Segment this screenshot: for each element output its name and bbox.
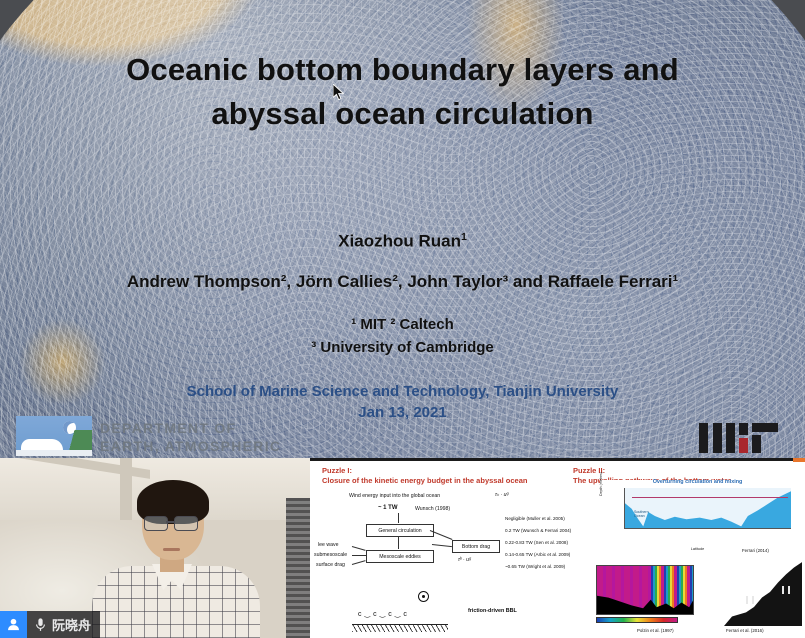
- thumbnail-top-bar: [310, 458, 805, 461]
- eyeglasses-bridge: [166, 521, 174, 523]
- department-logo-text-line1: DEPARTMENT OF: [100, 419, 281, 437]
- label-surface-drag: surface drag: [316, 562, 345, 568]
- microphone-icon[interactable]: [34, 617, 47, 633]
- sea-band: [16, 450, 92, 456]
- into-page-symbol-icon: [418, 591, 429, 602]
- polzin-colorbar: [596, 617, 678, 623]
- presenter-affiliation-marker: 1: [461, 231, 467, 243]
- polzin-mixing-figure: [578, 558, 698, 632]
- participant-name-bar: 阮晓舟: [0, 611, 100, 638]
- box-mesoscale-eddies: Mesoscale eddies: [366, 550, 434, 563]
- puzzle-1-subheading: Closure of the kinetic energy budget in …: [322, 476, 527, 486]
- sloping-seafloor: [702, 558, 802, 626]
- credit-ferrari-2016: Ferrari et al. (2016): [726, 628, 764, 633]
- ocean-basin-shading: [625, 488, 791, 528]
- ferrari-2016-schematic: [702, 558, 802, 626]
- overturning-streamline: [632, 497, 788, 498]
- citation-2: 0.2 TW (Wunsch & Ferrari 2004): [505, 528, 571, 533]
- wind-energy-formula: τₕ · uᵍ: [495, 492, 509, 498]
- mouse-pointer-icon: [333, 84, 345, 102]
- southern-ocean-label: Southern Ocean: [634, 510, 649, 519]
- box-bottom-drag: Bottom drag: [452, 540, 500, 553]
- label-submesoscale: submesoscale: [314, 552, 347, 558]
- puzzle-1-heading-group: Puzzle I: Closure of the kinetic energy …: [322, 466, 527, 486]
- southern-ocean-label-line2: Ocean: [634, 514, 649, 518]
- wind-energy-citation: Wunsch (1998): [415, 506, 450, 512]
- citation-4: 0.14-0.65 TW (Arbic et al. 2009): [505, 552, 570, 557]
- wind-energy-input-label: Wind energy input into the global ocean: [349, 493, 440, 499]
- mit-logo-red-bar: [739, 438, 748, 453]
- presenter-name-text: Xiaozhou Ruan: [338, 232, 461, 251]
- arrow-lee-wave: [352, 546, 366, 551]
- polzin-plot-area: [596, 565, 694, 615]
- presenter-name: Xiaozhou Ruan1: [0, 231, 805, 252]
- person-icon: [0, 611, 27, 638]
- arrow-circulation-to-eddies: [398, 536, 399, 549]
- arrow-eddies-to-bottom-drag: [432, 544, 452, 547]
- upwelling-arrow-2: [752, 596, 754, 604]
- participant-mouth: [163, 548, 180, 551]
- overturning-figure-title: Overturning circulation and mixing: [600, 479, 795, 485]
- department-logo-text: DEPARTMENT OF EARTH, ATMOSPHERIC: [100, 419, 281, 455]
- bottom-strip: 阮晓舟 Puzzle I: Closure of the kinetic ene…: [0, 458, 805, 638]
- citation-5: ~0.65 TW (Wright et al. 2009): [505, 564, 565, 569]
- credit-polzin: Polzin et al. (1997): [637, 628, 674, 633]
- citation-3: 0.22-0.83 TW (Sen et al. 2008): [505, 540, 568, 545]
- slide-title-line1: Oceanic bottom boundary layers and: [0, 52, 805, 88]
- overturning-circulation-figure: Overturning circulation and mixing 0 1,0…: [600, 480, 795, 542]
- bbl-label: friction-driven BBL: [468, 608, 517, 614]
- wind-energy-magnitude: ~ 1 TW: [378, 505, 398, 511]
- label-lee-wave: lee wave: [318, 542, 338, 548]
- slide-thumbnail-panel[interactable]: Puzzle I: Closure of the kinetic energy …: [310, 458, 805, 638]
- seafloor-hatching: [352, 624, 448, 632]
- eaps-department-logo-icon: [16, 416, 92, 456]
- participant-name-label: 阮晓舟: [52, 615, 91, 634]
- mit-logo-icon: [699, 419, 787, 453]
- coauthors: Andrew Thompson², Jörn Callies², John Ta…: [0, 272, 805, 292]
- participant-video-tile[interactable]: 阮晓舟: [0, 458, 310, 638]
- eyeglasses-right-lens: [174, 516, 198, 531]
- puzzle-1-heading: Puzzle I:: [322, 466, 527, 476]
- thumbnail-accent-marker: [793, 458, 805, 462]
- arrow-wind-to-circulation: [398, 513, 399, 523]
- department-logo-text-line2: EARTH, ATMOSPHERIC: [100, 437, 281, 455]
- box-general-circulation: General circulation: [366, 524, 434, 537]
- upwelling-arrow-1: [746, 596, 748, 604]
- upwelling-arrow-3: [782, 586, 784, 594]
- puzzle-2-heading: Puzzle II:: [573, 466, 731, 476]
- venue: School of Marine Science and Technology,…: [0, 383, 805, 400]
- shared-screen-slide[interactable]: Oceanic bottom boundary layers and abyss…: [0, 0, 805, 458]
- window-blind: [286, 498, 310, 638]
- affiliation-line1: ¹ MIT ² Caltech: [0, 316, 805, 333]
- ceiling-beam-vertical: [120, 458, 132, 520]
- credit-overturning: Ferrari (2014): [742, 548, 769, 553]
- upwelling-arrow-4: [788, 586, 790, 594]
- affiliation-line2: ³ University of Cambridge: [0, 339, 805, 356]
- overturning-ylabel: Depth (metres): [599, 472, 603, 496]
- cloud-icon: [21, 439, 63, 450]
- video-conference-window: Oceanic bottom boundary layers and abyss…: [0, 0, 805, 638]
- arrow-surface-drag: [352, 560, 366, 565]
- bottom-drag-formula: τᵇ · uᵍ: [458, 557, 471, 563]
- citation-1: Negligible (Muller et al. 2005): [505, 516, 565, 521]
- eddy-curls: c‿c‿c‿c: [358, 610, 410, 618]
- overturning-plot-area: 0 1,000 2,000 3,000 4,000 5,000 6,000 60…: [624, 488, 791, 529]
- slide-title-line2: abyssal ocean circulation: [0, 96, 805, 132]
- eyeglasses-left-lens: [144, 516, 168, 531]
- arrow-submesoscale: [352, 555, 366, 556]
